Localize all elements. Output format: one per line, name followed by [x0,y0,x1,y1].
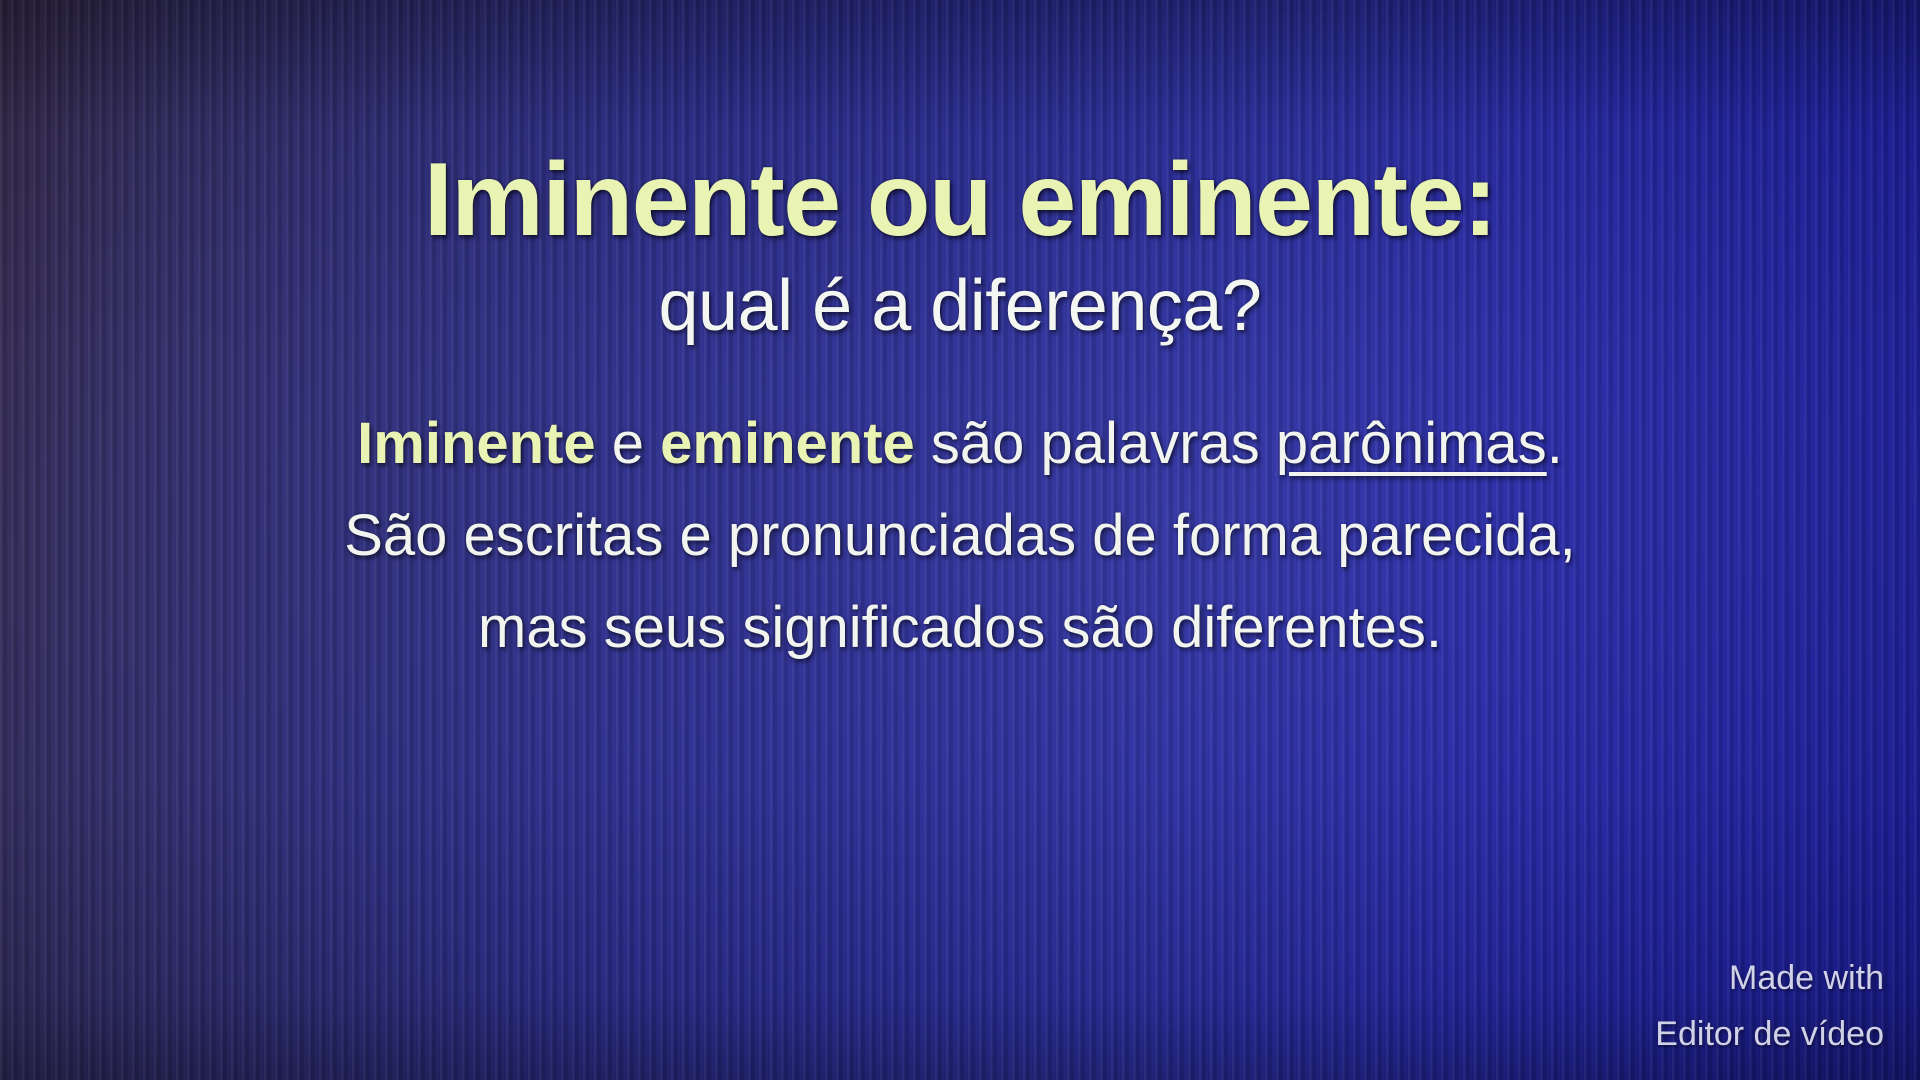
term-eminente: eminente [660,411,915,476]
slide-title: Iminente ou eminente: [0,148,1920,252]
term-paronimas: parônimas [1276,411,1547,476]
watermark-line-app-name: Editor de vídeo [1655,1006,1884,1062]
body-conjunction: e [596,411,661,476]
body-text-part-1: são palavras [915,411,1276,476]
slide-content: Iminente ou eminente: qual é a diferença… [0,0,1920,1080]
watermark-line-made-with: Made with [1655,950,1884,1006]
slide-body-paragraph: Iminente e eminente são palavras parônim… [300,398,1620,674]
made-with-watermark: Made with Editor de vídeo [1655,950,1884,1062]
video-slide-frame: Iminente ou eminente: qual é a diferença… [0,0,1920,1080]
term-iminente: Iminente [357,411,596,476]
slide-subtitle: qual é a diferença? [0,270,1920,342]
